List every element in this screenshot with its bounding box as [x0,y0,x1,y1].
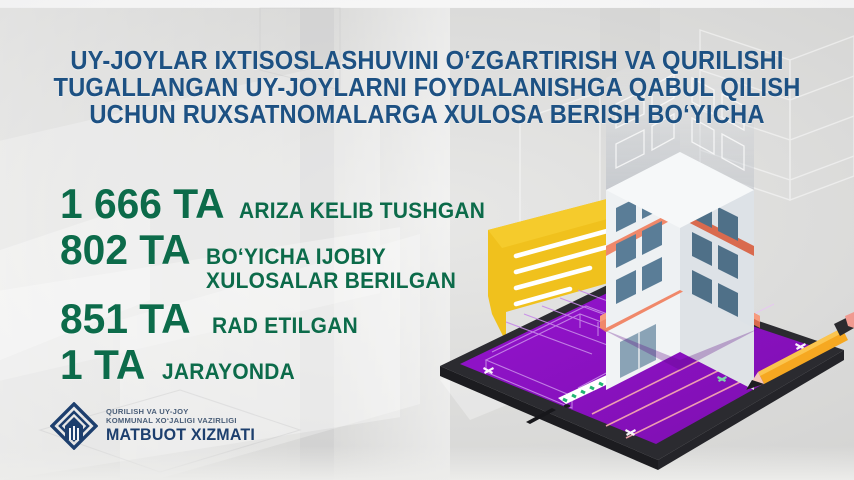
stat-number: 1 666 TA [60,182,225,226]
ministry-logo-text: QURILISH VA UY-JOY KOMMUNAL XO‘JALIGI VA… [106,408,260,443]
stat-row: 851 TA RAD ETILGAN [60,297,498,341]
title-line-1: UY-JOYLAR IXTISOSLASHUVINI O‘ZGARTIRISH … [30,48,824,75]
stat-label: JARAYONDA [162,360,295,384]
stat-row: 1 TA JARAYONDA [60,343,498,387]
infographic-canvas: UY-JOYLAR IXTISOSLASHUVINI O‘ZGARTIRISH … [0,0,854,480]
title-line-2: TUGALLANGAN UY-JOYLARNI FOYDALANISHGA QA… [30,75,824,102]
page-title: UY-JOYLAR IXTISOSLASHUVINI O‘ZGARTIRISH … [30,48,824,129]
statistics-list: 1 666 TA ARIZA KELIB TUSHGAN 802 TA BO‘Y… [60,182,498,389]
stat-label: BO‘YICHA IJOBIY XULOSALAR BERILGAN [206,245,456,293]
stat-label: ARIZA KELIB TUSHGAN [239,199,485,223]
ministry-diamond-emblem-icon [50,402,98,450]
title-line-3: UCHUN RUXSATNOMALARGA XULOSA BERISH BO‘Y… [30,102,824,129]
stat-number: 802 TA [60,228,191,272]
ministry-logo: QURILISH VA UY-JOY KOMMUNAL XO‘JALIGI VA… [50,402,260,450]
screen-dot [564,404,570,408]
stat-row: 802 TA BO‘YICHA IJOBIY XULOSALAR BERILGA… [60,228,498,293]
stat-number: 1 TA [60,343,145,387]
logo-line-3: MATBUOT XIZMATI [106,426,255,444]
stat-number: 851 TA [60,297,191,341]
stat-label: RAD ETILGAN [212,314,358,338]
stat-row: 1 666 TA ARIZA KELIB TUSHGAN [60,182,498,226]
logo-line-2: KOMMUNAL XO‘JALIGI VAZIRLIGI [106,417,260,426]
